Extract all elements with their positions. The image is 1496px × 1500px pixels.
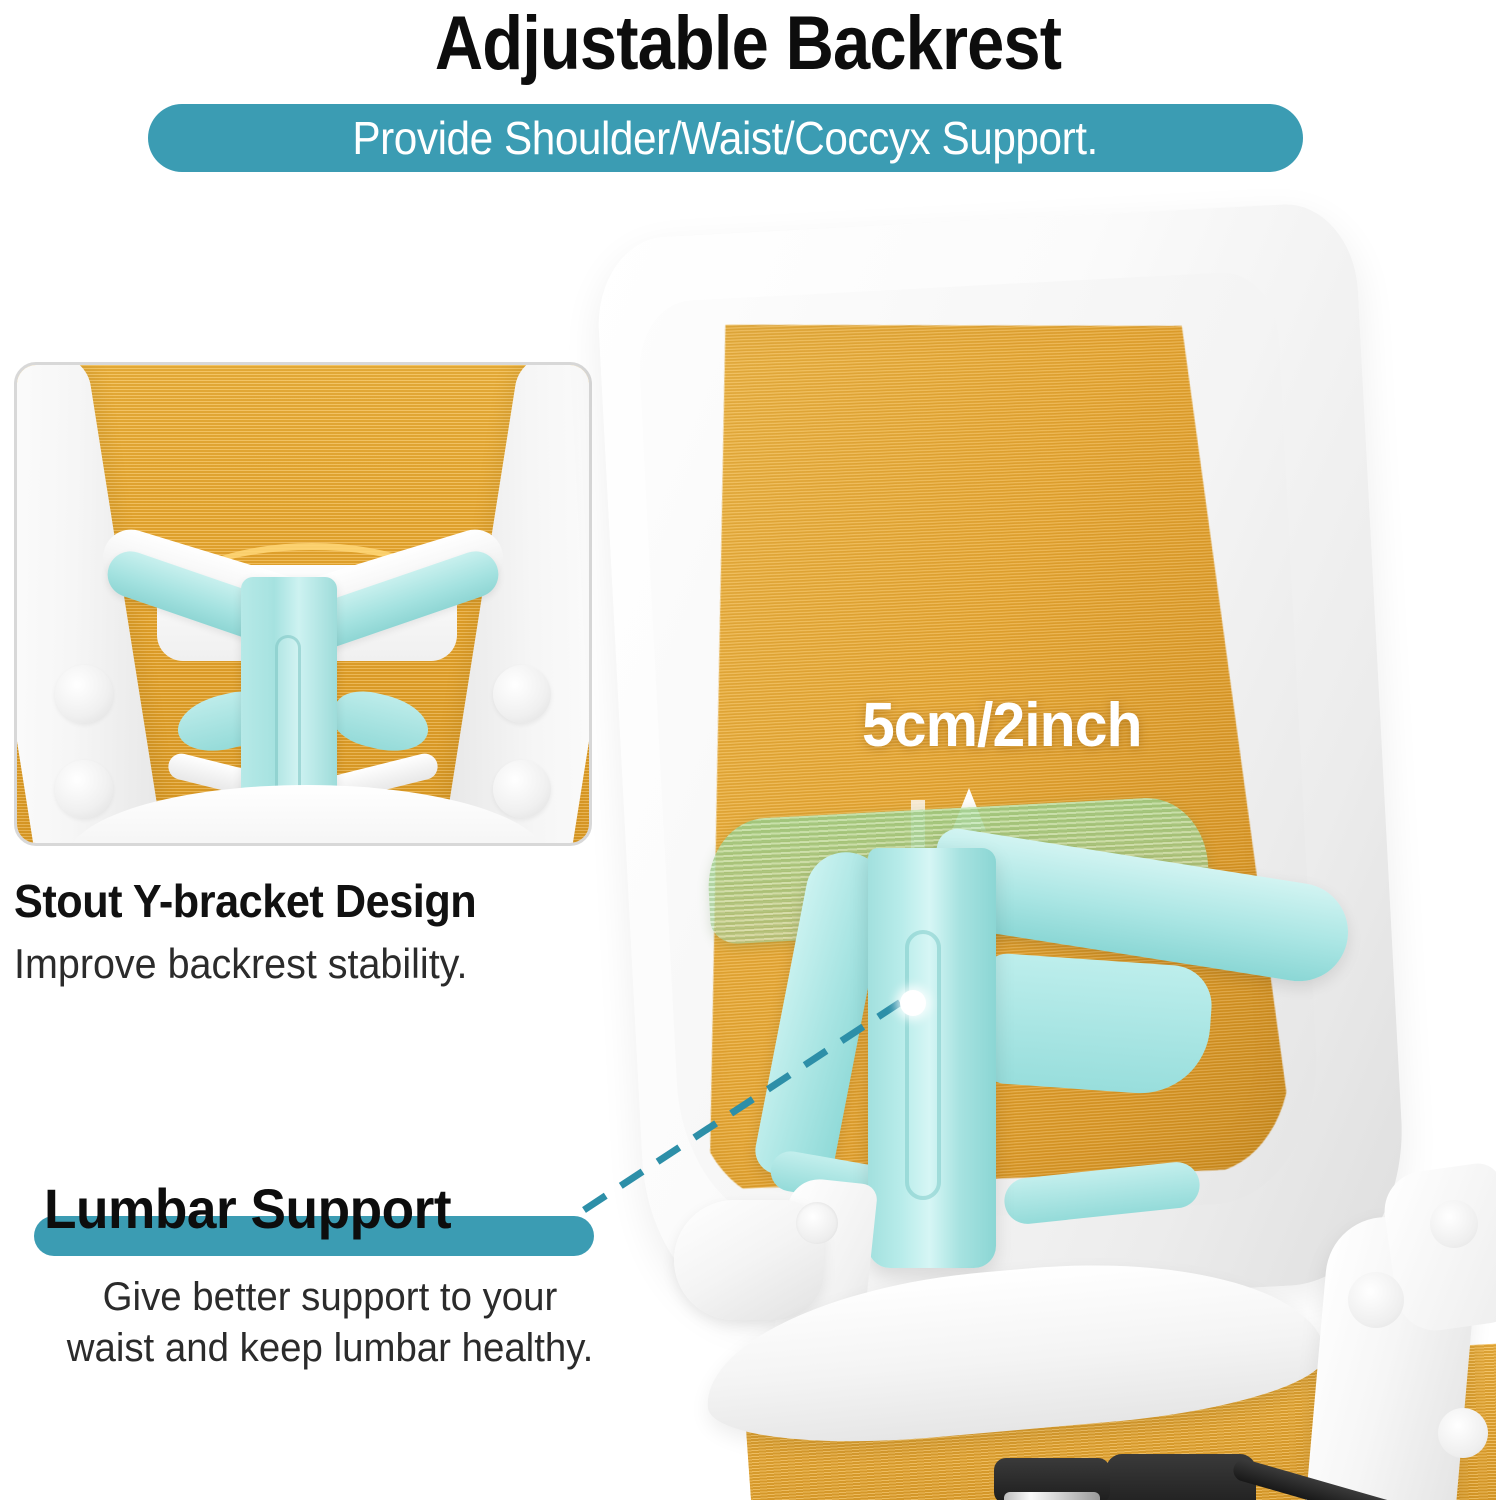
armrest-dimple — [1348, 1272, 1404, 1328]
inset-pivot-nub — [55, 760, 113, 818]
chair-product-image: 5cm/2inch — [600, 200, 1496, 1500]
callout-dot-icon — [900, 990, 926, 1016]
subtitle-text: Provide Shoulder/Waist/Coccyx Support. — [353, 111, 1098, 165]
feature-heading-y-bracket: Stout Y-bracket Design — [14, 874, 476, 928]
armrest-dimple — [1430, 1200, 1478, 1248]
feature-heading-lumbar: Lumbar Support — [44, 1176, 451, 1241]
bracket-mid-plate — [976, 952, 1215, 1098]
feature-body-lumbar-line2: waist and keep lumbar healthy. — [13, 1323, 647, 1374]
pivot-dimple — [796, 1202, 838, 1244]
y-bracket-closeup-image — [14, 362, 592, 846]
gas-cylinder-chrome — [1004, 1492, 1100, 1500]
inset-pivot-nub — [55, 665, 113, 723]
inset-pivot-nub — [493, 760, 551, 818]
feature-body-lumbar: Give better support to your waist and ke… — [0, 1272, 660, 1374]
inset-pivot-nub — [493, 665, 551, 723]
subtitle-banner: Provide Shoulder/Waist/Coccyx Support. — [148, 104, 1303, 172]
product-infographic: Adjustable Backrest Provide Shoulder/Wai… — [0, 0, 1496, 1500]
inset-bracket-groove — [275, 635, 301, 803]
page-title: Adjustable Backrest — [90, 4, 1406, 84]
feature-body-lumbar-line1: Give better support to your — [13, 1272, 647, 1323]
adjust-range-label: 5cm/2inch — [862, 690, 1142, 761]
tilt-lever-hub — [1106, 1454, 1256, 1500]
armrest-dimple — [1438, 1408, 1488, 1458]
feature-body-y-bracket: Improve backrest stability. — [14, 940, 467, 988]
bracket-groove — [905, 930, 941, 1200]
